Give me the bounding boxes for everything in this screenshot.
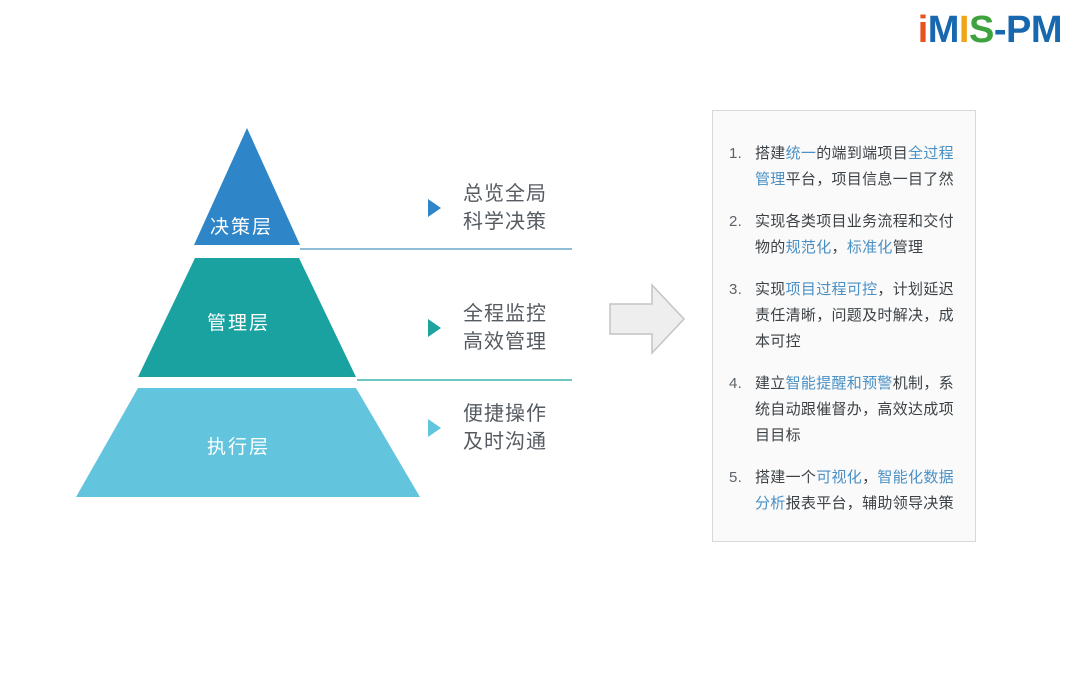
right-arrow-icon [608, 282, 686, 356]
pyramid-diagram: 决策层 管理层 执行层 总览全局 科学决策 全程监控 高效管理 便捷操作 及时沟… [60, 110, 600, 510]
outcome-text-segment: 统一 [786, 145, 817, 162]
outcome-text-segment: 搭建 [755, 145, 786, 162]
list-item: 建立智能提醒和预警机制，系统自动跟催督办，高效达成项目目标 [727, 371, 959, 449]
list-item: 搭建统一的端到端项目全过程管理平台，项目信息一目了然 [727, 141, 959, 193]
side-label-manage-line1: 全程监控 [463, 303, 547, 325]
logo-letter-i2: I [959, 8, 969, 52]
outcome-text-segment: 报表平台，辅助领导决策 [786, 495, 954, 512]
side-label-execute-line1: 便捷操作 [463, 403, 547, 425]
side-label-decision-line2: 科学决策 [463, 211, 547, 233]
outcome-text-segment: 实现 [755, 281, 786, 298]
outcome-text-segment: 标准化 [847, 239, 893, 256]
side-label-decision-line1: 总览全局 [463, 183, 547, 205]
list-item: 搭建一个可视化，智能化数据分析报表平台，辅助领导决策 [727, 465, 959, 517]
outcome-text-segment: 智能提醒和预警 [786, 375, 893, 392]
logo-suffix-pm: -PM [994, 8, 1062, 52]
outcome-text-segment: 建立 [755, 375, 786, 392]
pyramid-label-execute: 执行层 [207, 432, 270, 459]
outcome-text-segment: 管理 [893, 239, 924, 256]
side-label-execute-line2: 及时沟通 [463, 431, 547, 453]
logo-letter-m: M [928, 8, 959, 52]
side-label-execute: 便捷操作 及时沟通 [428, 400, 547, 456]
list-item: 实现各类项目业务流程和交付物的规范化，标准化管理 [727, 209, 959, 261]
pyramid-label-decision: 决策层 [210, 212, 273, 239]
pyramid-label-manage: 管理层 [207, 308, 270, 335]
outcome-text-segment: 搭建一个 [755, 469, 816, 486]
side-label-decision-text: 总览全局 科学决策 [463, 180, 547, 236]
side-label-manage-text: 全程监控 高效管理 [463, 300, 547, 356]
outcome-panel: 搭建统一的端到端项目全过程管理平台，项目信息一目了然 实现各类项目业务流程和交付… [712, 110, 976, 542]
triangle-bullet-icon-decision [428, 199, 441, 217]
list-item: 实现项目过程可控，计划延迟责任清晰，问题及时解决，成本可控 [727, 277, 959, 355]
side-label-manage: 全程监控 高效管理 [428, 300, 547, 356]
outcome-text-segment: ， [832, 239, 847, 256]
logo-letter-i: i [918, 8, 928, 52]
outcome-text-segment: 规范化 [786, 239, 832, 256]
outcome-text-segment: 项目过程可控 [786, 281, 878, 298]
outcome-text-segment: 平台，项目信息一目了然 [786, 171, 954, 188]
side-label-manage-line2: 高效管理 [463, 331, 547, 353]
triangle-bullet-icon-execute [428, 419, 441, 437]
outcome-list: 搭建统一的端到端项目全过程管理平台，项目信息一目了然 实现各类项目业务流程和交付… [727, 141, 959, 517]
triangle-bullet-icon-manage [428, 319, 441, 337]
outcome-text-segment: 可视化 [816, 469, 862, 486]
outcome-text-segment: 的端到端项目 [816, 145, 908, 162]
outcome-text-segment: ， [862, 469, 877, 486]
side-label-execute-text: 便捷操作 及时沟通 [463, 400, 547, 456]
side-label-decision: 总览全局 科学决策 [428, 180, 547, 236]
brand-logo: iMIS-PM [918, 8, 1062, 52]
logo-letter-s: S [969, 8, 994, 52]
